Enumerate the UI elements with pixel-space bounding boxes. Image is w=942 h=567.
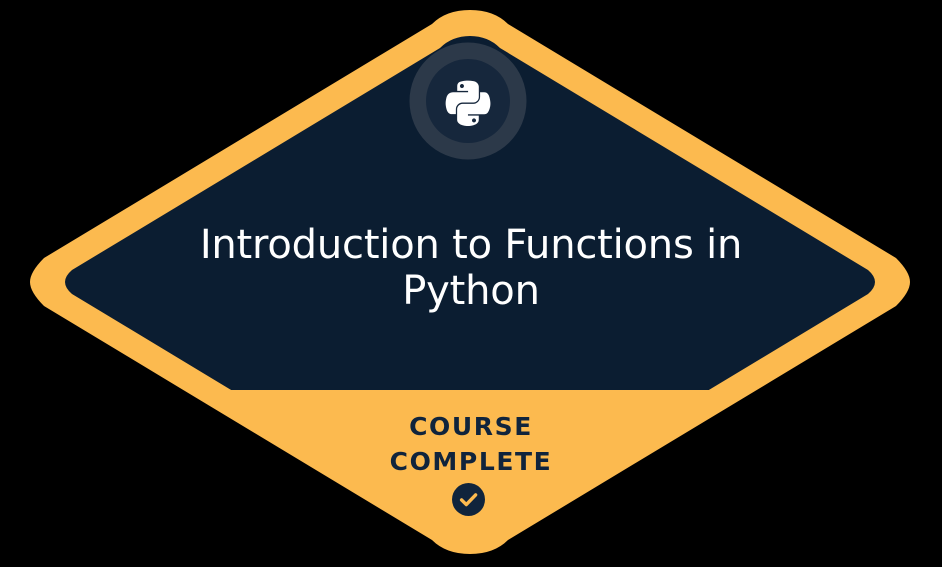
course-title: Introduction to Functions in Python — [171, 222, 771, 314]
status-line-complete: COMPLETE — [271, 444, 671, 479]
course-title-text: Introduction to Functions in Python — [200, 222, 742, 314]
check-circle-icon — [452, 483, 485, 516]
status-line-course: COURSE — [271, 409, 671, 444]
python-logo-icon — [443, 76, 493, 126]
badge-canvas: Introduction to Functions in Python COUR… — [0, 0, 942, 567]
completion-status: COURSE COMPLETE — [271, 409, 671, 479]
